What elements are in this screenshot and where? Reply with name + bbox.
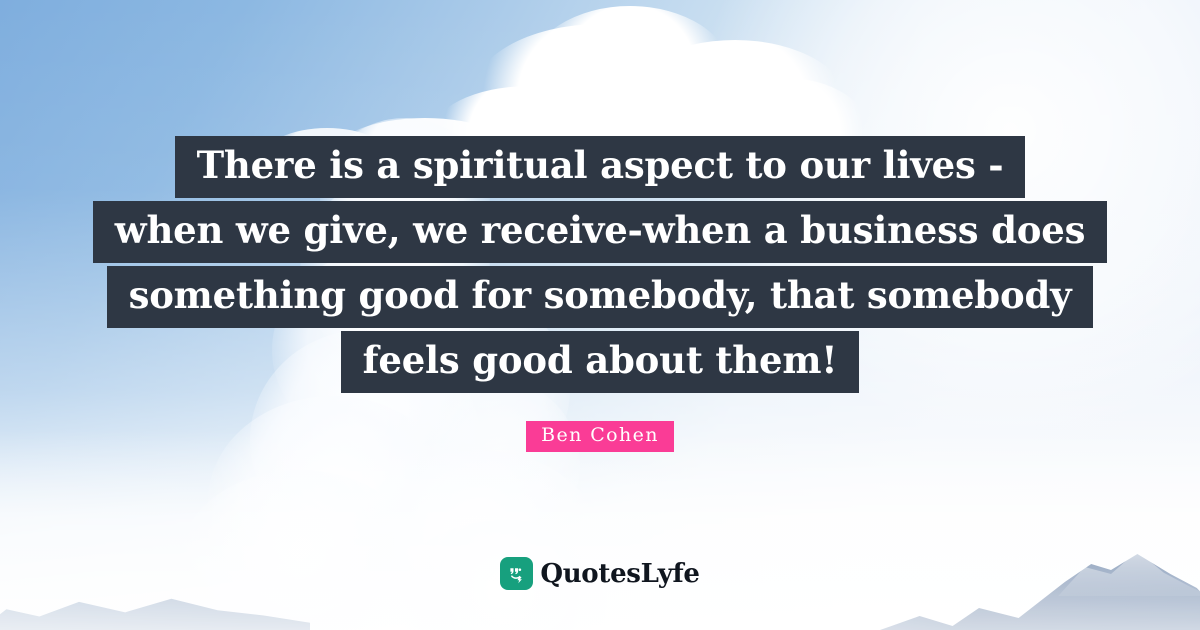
author-attribution: Ben Cohen [0,421,1200,452]
quote-line: feels good about them! [0,331,1200,393]
quote-card: There is a spiritual aspect to our lives… [0,0,1200,630]
quote-line-text: when we give, we receive-when a business… [93,201,1107,263]
quote-line: There is a spiritual aspect to our lives… [0,136,1200,198]
quote-line-text: feels good about them! [341,331,860,393]
atmospheric-haze [0,430,1200,630]
quote-line-text: something good for somebody, that somebo… [107,266,1094,328]
author-name-badge[interactable]: Ben Cohen [526,421,674,452]
quote-line: when we give, we receive-when a business… [0,201,1200,263]
brand-logo[interactable]: QuotesLyfe [0,557,1200,590]
brand-name: QuotesLyfe [540,561,699,587]
smiley-quote-icon [500,557,533,590]
quote-line-text: There is a spiritual aspect to our lives… [175,136,1026,198]
quote-text: There is a spiritual aspect to our lives… [0,136,1200,393]
quote-line: something good for somebody, that somebo… [0,266,1200,328]
